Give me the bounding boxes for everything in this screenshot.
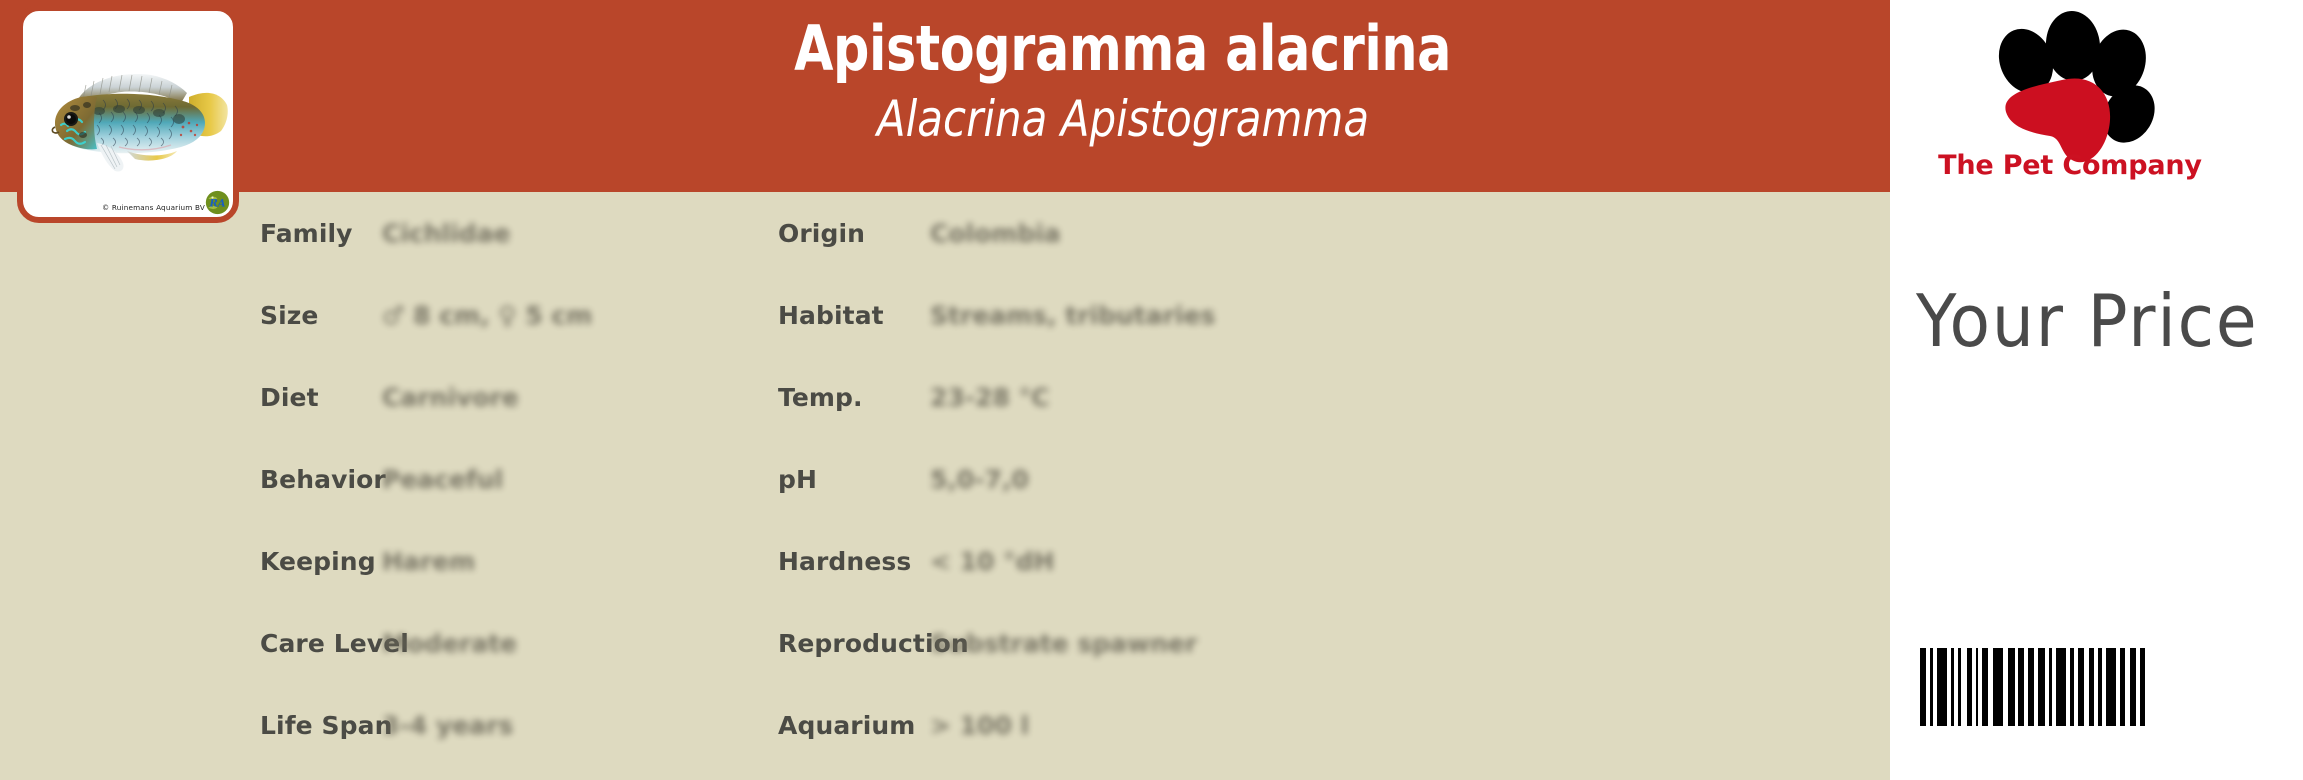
scientific-name: Apistogramma alacrina <box>794 12 1451 86</box>
spec-row-origin: Origin Colombia <box>778 192 1678 274</box>
brand-name: The Pet Company <box>1890 150 2250 181</box>
barcode-bar <box>2008 648 2015 726</box>
barcode-icon <box>1920 648 2145 726</box>
spec-label: Diet <box>260 383 319 412</box>
spec-value: Substrate spawner <box>930 629 1197 658</box>
header-titles: Apistogramma alacrina Alacrina Apistogra… <box>355 0 1890 192</box>
spec-value: Peaceful <box>382 465 503 494</box>
spec-row-reproduction: Reproduction Substrate spawner <box>778 602 1678 684</box>
spec-label: Behavior <box>260 465 386 494</box>
spec-value: Harem <box>382 547 475 576</box>
spec-row-habitat: Habitat Streams, tributaries <box>778 274 1678 356</box>
spec-value: Carnivore <box>382 383 519 412</box>
spec-row-ph: pH 5,0-7,0 <box>778 438 1678 520</box>
barcode-bar <box>2056 648 2066 726</box>
spec-value: > 100 l <box>930 711 1029 740</box>
barcode-bar <box>2038 648 2045 726</box>
spec-row-hardness: Hardness < 10 °dH <box>778 520 1678 602</box>
spec-label: pH <box>778 465 817 494</box>
spec-row-temperature: Temp. 23-28 °C <box>778 356 1678 438</box>
barcode-bar <box>1937 648 1947 726</box>
spec-value: Moderate <box>382 629 517 658</box>
spec-value: Colombia <box>930 219 1061 248</box>
barcode-bar <box>2106 648 2116 726</box>
spec-value: 3-4 years <box>382 711 513 740</box>
spec-value: 23-28 °C <box>930 383 1050 412</box>
species-specs: Family Cichlidae Size ♂ 8 cm, ♀ 5 cm Die… <box>0 192 1890 780</box>
product-label: Apistogramma alacrina Alacrina Apistogra… <box>0 0 2303 780</box>
barcode-bar <box>2140 648 2145 726</box>
spec-value: 5,0-7,0 <box>930 465 1029 494</box>
spec-value: Streams, tributaries <box>930 301 1215 330</box>
spec-label: Hardness <box>778 547 911 576</box>
spec-value: Cichlidae <box>382 219 510 248</box>
spec-label: Family <box>260 219 353 248</box>
header-band: Apistogramma alacrina Alacrina Apistogra… <box>0 0 1890 192</box>
common-name: Alacrina Apistogramma <box>876 90 1368 148</box>
spec-label: Size <box>260 301 318 330</box>
spec-value: ♂ 8 cm, ♀ 5 cm <box>382 301 592 330</box>
spec-label: Life Span <box>260 711 393 740</box>
spec-label: Temp. <box>778 383 863 412</box>
species-photo <box>23 11 233 217</box>
spec-row-aquarium: Aquarium > 100 l <box>778 684 1678 766</box>
spec-value: < 10 °dH <box>930 547 1054 576</box>
species-photo-card: © Ruinemans Aquarium BV RA <box>17 5 239 223</box>
spec-label: Keeping <box>260 547 376 576</box>
price-panel: The Pet Company Your Price <box>1890 0 2303 780</box>
specs-column-right: Origin Colombia Habitat Streams, tributa… <box>778 192 1678 766</box>
your-price-label: Your Price <box>1916 282 2258 360</box>
spec-label: Habitat <box>778 301 884 330</box>
fish-illustration <box>31 59 231 177</box>
spec-label: Origin <box>778 219 865 248</box>
barcode-bar <box>1993 648 2003 726</box>
spec-label: Aquarium <box>778 711 915 740</box>
